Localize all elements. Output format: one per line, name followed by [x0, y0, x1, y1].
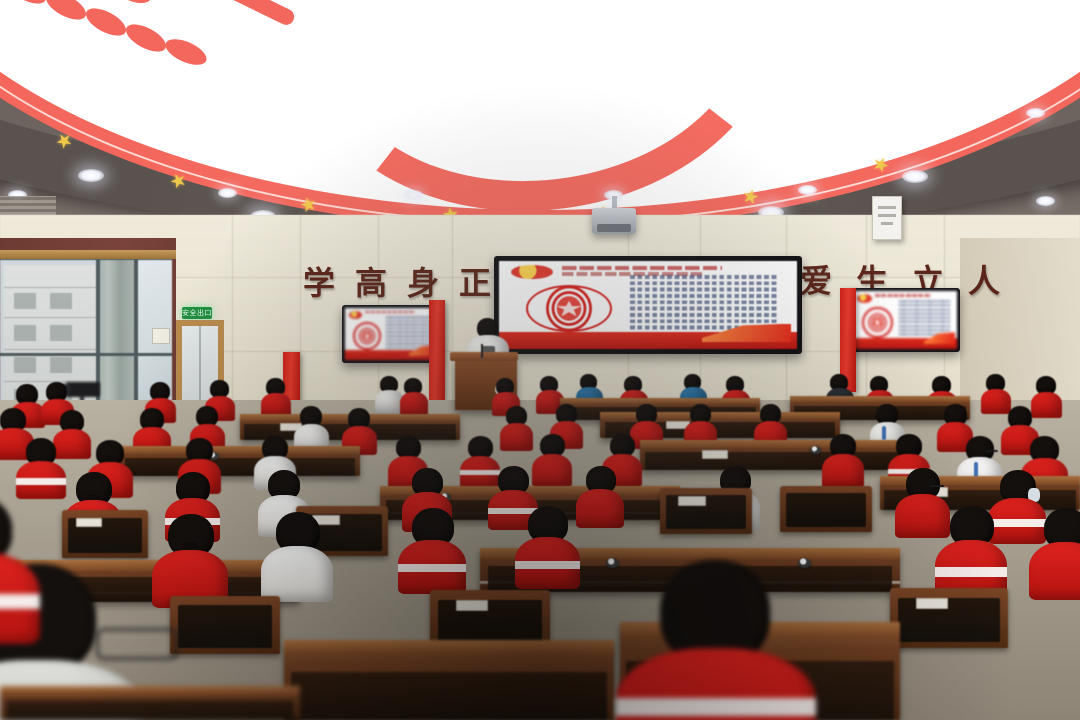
slide-content: [345, 308, 439, 360]
wheat-stem: [0, 0, 297, 28]
auditorium-scene: ★ ★ ★ ★ ★ ★ ★: [0, 0, 1080, 720]
hammer-and-sickle-icon: [300, 0, 770, 80]
right-wall-tv[interactable]: [850, 288, 960, 352]
ceiling-downlight: [78, 169, 104, 182]
slide-title-line: [562, 266, 723, 270]
slide-party-logo-icon: [349, 311, 362, 319]
wall-motto-char: 人: [968, 256, 1000, 302]
emergency-exit-sign: 安全出口: [182, 307, 212, 319]
wall-motto-char: 正: [459, 258, 491, 304]
podium-microphone: [481, 344, 483, 358]
wall-motto-char: 爱: [800, 256, 832, 302]
projection-screen[interactable]: [494, 256, 802, 354]
slide-bottom-banner: [345, 350, 439, 360]
slide-body-text: [386, 316, 433, 348]
slide-party-logo-icon: [511, 265, 553, 279]
wall-motto-char: 高: [355, 258, 387, 304]
wheat-sheaf-icon: [0, 0, 360, 90]
hanging-room-sign: [872, 196, 902, 240]
podium-top: [450, 352, 518, 361]
slide-content: [853, 291, 957, 349]
slide-seal-icon: [862, 307, 892, 338]
ceiling-downlight: [902, 170, 928, 183]
projector-lens: [597, 224, 631, 232]
ceiling-projector: [592, 208, 636, 234]
ceiling-downlight: [798, 185, 817, 195]
slide-content: [499, 261, 797, 349]
desk-row-7-front: [0, 686, 300, 720]
slide-bottom-banner: [499, 332, 797, 349]
ceiling-downlight: [1026, 108, 1045, 118]
slide-bottom-banner: [853, 338, 957, 349]
exit-sign-label: 安全出口: [182, 308, 212, 318]
ceiling-downlight: [1036, 196, 1055, 206]
wall-motto-char: 学: [303, 258, 335, 304]
ceiling-downlight: [404, 190, 423, 200]
window-frame-top: [0, 250, 176, 259]
eyeglasses: [96, 628, 178, 660]
slide-title-line: [365, 311, 416, 313]
left-wall-tv[interactable]: [342, 305, 442, 363]
slide-party-logo-icon: [857, 294, 872, 303]
wall-motto-char: 身: [407, 258, 439, 304]
ceiling-downlight: [218, 188, 237, 198]
slide-title-line: [875, 294, 931, 296]
slide-body-text: [899, 300, 951, 336]
slide-seal-icon: [353, 322, 380, 350]
slide-body-text: [630, 275, 779, 330]
slide-seal-icon: [526, 285, 612, 333]
wall-mounted-box: [152, 328, 170, 344]
